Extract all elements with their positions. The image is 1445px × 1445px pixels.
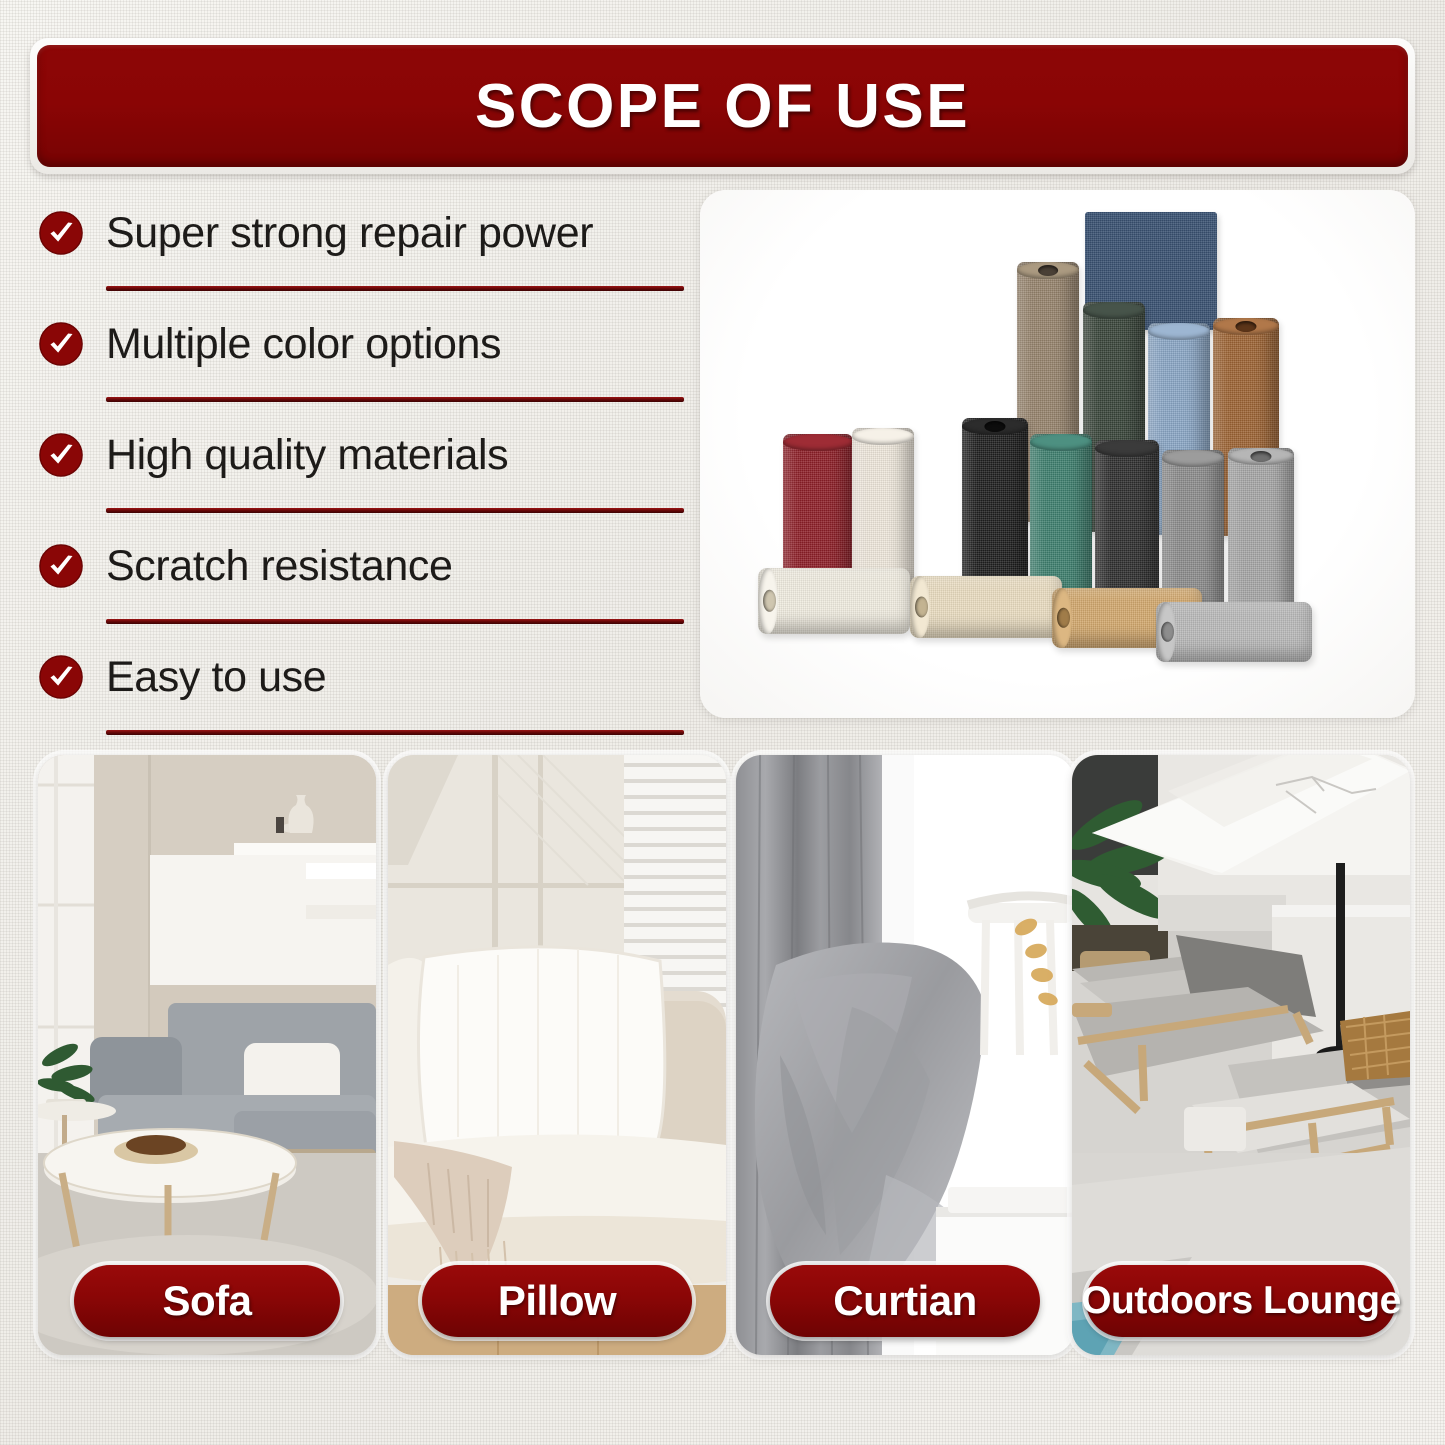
feature-label: High quality materials xyxy=(106,431,508,480)
feature-divider xyxy=(106,508,684,513)
feature-divider-slot-4 xyxy=(38,714,688,751)
scene-label-pillow: Pillow xyxy=(422,1265,692,1337)
feature-label: Scratch resistance xyxy=(106,542,453,591)
feature-divider xyxy=(106,619,684,624)
tape-roll-light-grey xyxy=(1228,448,1294,624)
scene-card-outdoors-lounge[interactable]: Outdoors Lounge xyxy=(1072,755,1410,1355)
product-image-card: Cahomo LINEN REPAIR TAPE Easy to Paste Q… xyxy=(700,190,1415,718)
feature-divider-slot-1 xyxy=(38,381,688,418)
check-circle-icon xyxy=(38,543,84,589)
feature-label: Super strong repair power xyxy=(106,209,593,258)
feature-label: Easy to use xyxy=(106,653,326,702)
tape-roll-beige xyxy=(910,576,1062,638)
scene-card-pillow[interactable]: Pillow xyxy=(388,755,726,1355)
feature-item-2: High quality materials xyxy=(38,418,688,492)
feature-item-3: Scratch resistance xyxy=(38,529,688,603)
header-banner: SCOPE OF USE xyxy=(30,38,1415,174)
check-circle-icon xyxy=(38,321,84,367)
product-photo: Cahomo LINEN REPAIR TAPE Easy to Paste Q… xyxy=(700,190,1415,718)
tape-roll-charcoal xyxy=(1095,440,1159,612)
scene-label-outdoors-lounge: Outdoors Lounge xyxy=(1086,1265,1396,1337)
scene-label-sofa: Sofa xyxy=(74,1265,340,1337)
feature-list: Super strong repair power Multiple color… xyxy=(38,196,688,751)
feature-item-0: Super strong repair power xyxy=(38,196,688,270)
feature-divider-slot-3 xyxy=(38,603,688,640)
feature-item-1: Multiple color options xyxy=(38,307,688,381)
check-circle-icon xyxy=(38,210,84,256)
feature-divider xyxy=(106,397,684,402)
check-circle-icon xyxy=(38,654,84,700)
scene-label-curtain: Curtian xyxy=(770,1265,1040,1337)
tape-roll-silver xyxy=(1156,602,1312,662)
feature-divider-slot-2 xyxy=(38,492,688,529)
scene-card-curtain[interactable]: Curtian xyxy=(736,755,1074,1355)
scene-card-sofa[interactable]: Sofa xyxy=(38,755,376,1355)
feature-divider xyxy=(106,730,684,735)
check-circle-icon xyxy=(38,432,84,478)
tape-roll-cream xyxy=(758,568,910,634)
feature-divider xyxy=(106,286,684,291)
feature-divider-slot-0 xyxy=(38,270,688,307)
feature-item-4: Easy to use xyxy=(38,640,688,714)
page-title: SCOPE OF USE xyxy=(475,71,970,142)
feature-label: Multiple color options xyxy=(106,320,501,369)
header-banner-inner: SCOPE OF USE xyxy=(37,45,1408,167)
